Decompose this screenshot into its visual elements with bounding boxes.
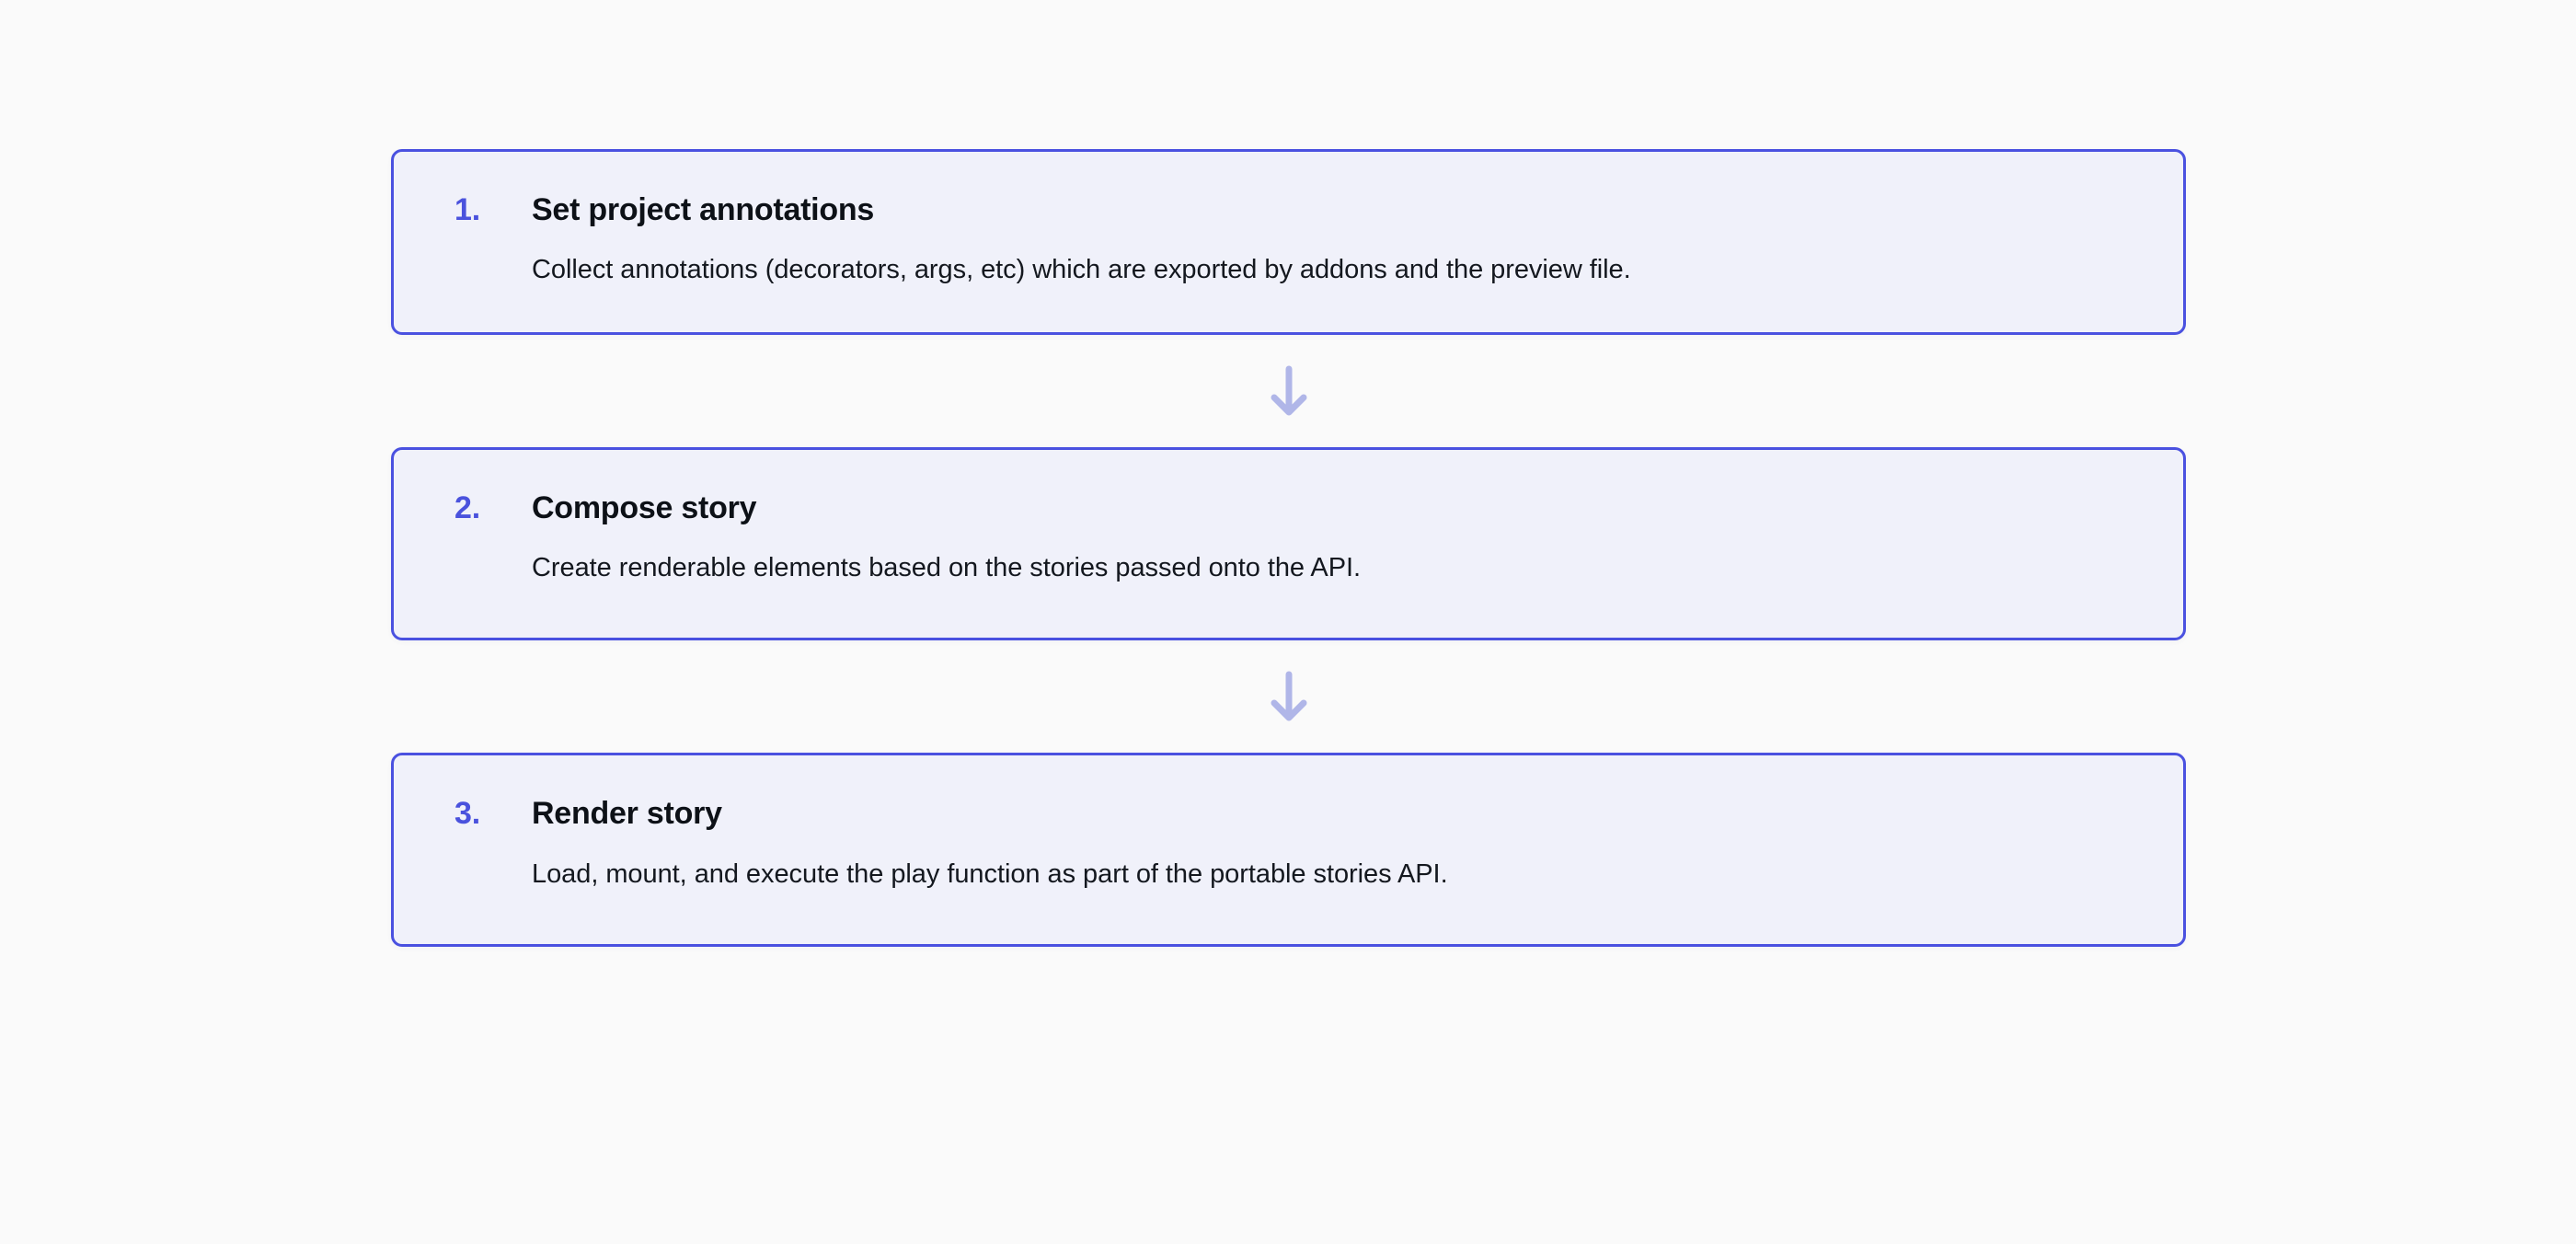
- step-card-2: 2. Compose story Create renderable eleme…: [391, 447, 2186, 640]
- step-card-2-heading-row: 2. Compose story: [454, 490, 2130, 526]
- step-card-1: 1. Set project annotations Collect annot…: [391, 149, 2186, 335]
- flow-diagram: 1. Set project annotations Collect annot…: [0, 0, 2576, 1244]
- steps-column: 1. Set project annotations Collect annot…: [391, 149, 2186, 947]
- step-title-2: Compose story: [532, 490, 756, 526]
- step-description-2: Create renderable elements based on the …: [532, 550, 2130, 586]
- step-card-3-heading-row: 3. Render story: [454, 796, 2130, 832]
- step-number-2: 2.: [454, 492, 532, 524]
- connector-2: [391, 640, 2186, 753]
- step-card-1-heading-row: 1. Set project annotations: [454, 192, 2130, 228]
- step-number-3: 3.: [454, 798, 532, 829]
- step-card-1-content: 1. Set project annotations Collect annot…: [394, 152, 2183, 332]
- step-title-1: Set project annotations: [532, 192, 874, 228]
- step-number-1: 1.: [454, 194, 532, 225]
- step-card-3: 3. Render story Load, mount, and execute…: [391, 753, 2186, 946]
- step-description-3: Load, mount, and execute the play functi…: [532, 857, 2130, 893]
- step-title-3: Render story: [532, 796, 722, 832]
- arrow-down-icon: [1268, 671, 1310, 722]
- step-card-3-content: 3. Render story Load, mount, and execute…: [394, 755, 2183, 943]
- step-card-2-content: 2. Compose story Create renderable eleme…: [394, 450, 2183, 638]
- step-description-1: Collect annotations (decorators, args, e…: [532, 252, 2130, 288]
- arrow-down-icon: [1268, 365, 1310, 417]
- connector-1: [391, 335, 2186, 447]
